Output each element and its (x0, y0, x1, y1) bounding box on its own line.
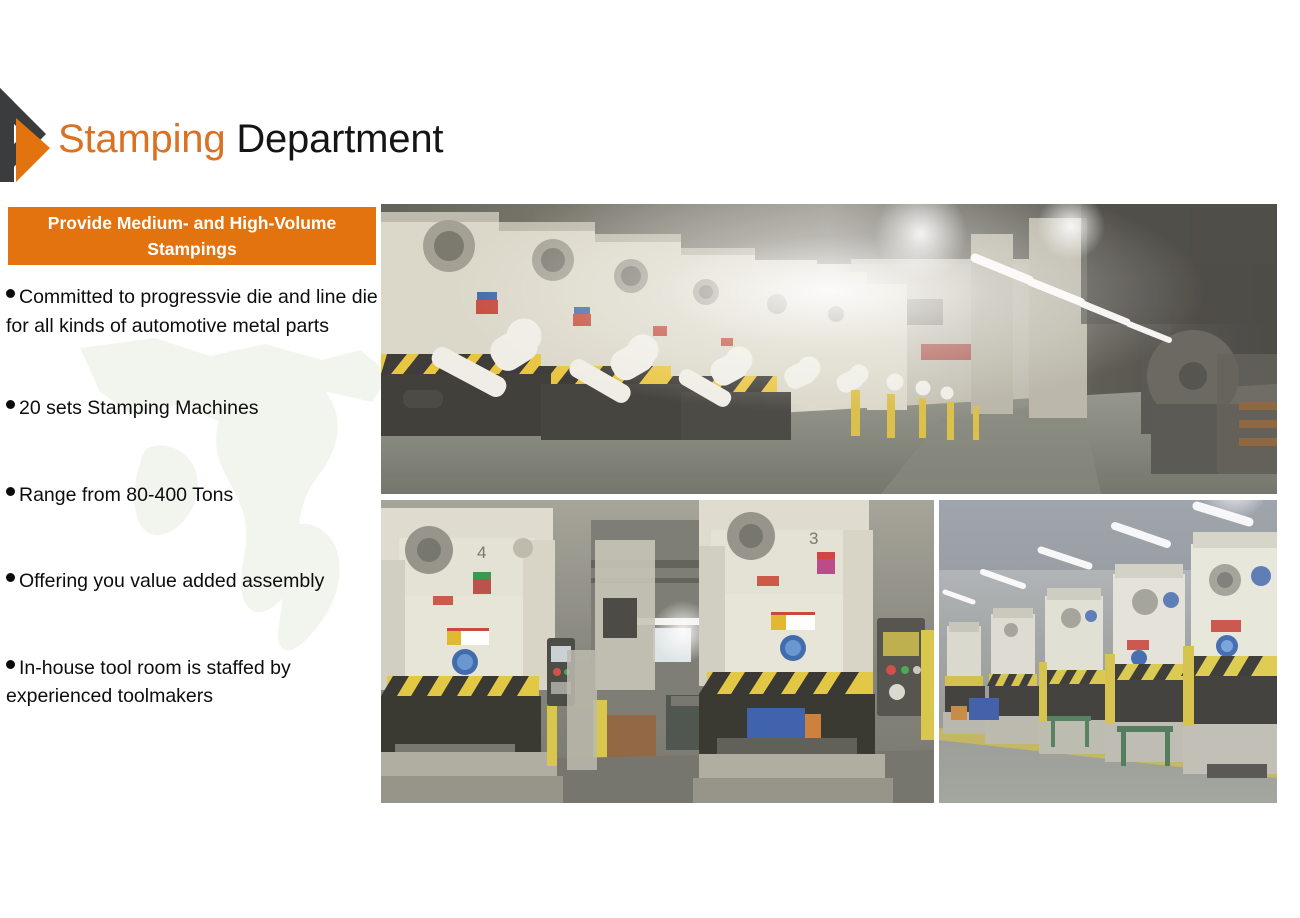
bullet-dot-icon (6, 289, 15, 298)
list-item: In-house tool room is staffed by experie… (6, 654, 378, 711)
section-banner-label: Provide Medium- and High-Volume Stamping… (20, 210, 364, 262)
page-title: Stamping Department (58, 113, 443, 165)
bullet-dot-icon (6, 573, 15, 582)
photo-press-row (939, 500, 1277, 803)
list-item: Committed to progressvie die and line di… (6, 283, 378, 340)
photo-press-line-with-robots (381, 204, 1277, 494)
list-item-label: 20 sets Stamping Machines (19, 397, 259, 419)
page-title-accent-word: Stamping (58, 117, 225, 161)
bullet-dot-icon (6, 487, 15, 496)
list-item: Offering you value added assembly (6, 567, 378, 596)
bullet-dot-icon (6, 400, 15, 409)
list-item-label: Offering you value added assembly (19, 570, 324, 592)
photo-two-c-frame-presses: 4 (381, 500, 934, 803)
list-item: 20 sets Stamping Machines (6, 394, 378, 423)
double-chevron-arrow-logo (0, 86, 56, 186)
list-item-label: Committed to progressvie die and line di… (6, 286, 378, 337)
feature-bullet-list: Committed to progressvie die and line di… (6, 283, 378, 711)
list-item-label: In-house tool room is staffed by experie… (6, 657, 291, 708)
list-item-label: Range from 80-400 Tons (19, 484, 233, 506)
section-banner: Provide Medium- and High-Volume Stamping… (8, 207, 376, 265)
list-item: Range from 80-400 Tons (6, 481, 378, 510)
slide-root: Stamping Department Provide Medium- and … (0, 0, 1300, 918)
page-title-main-word: Department (236, 117, 443, 161)
bullet-dot-icon (6, 660, 15, 669)
